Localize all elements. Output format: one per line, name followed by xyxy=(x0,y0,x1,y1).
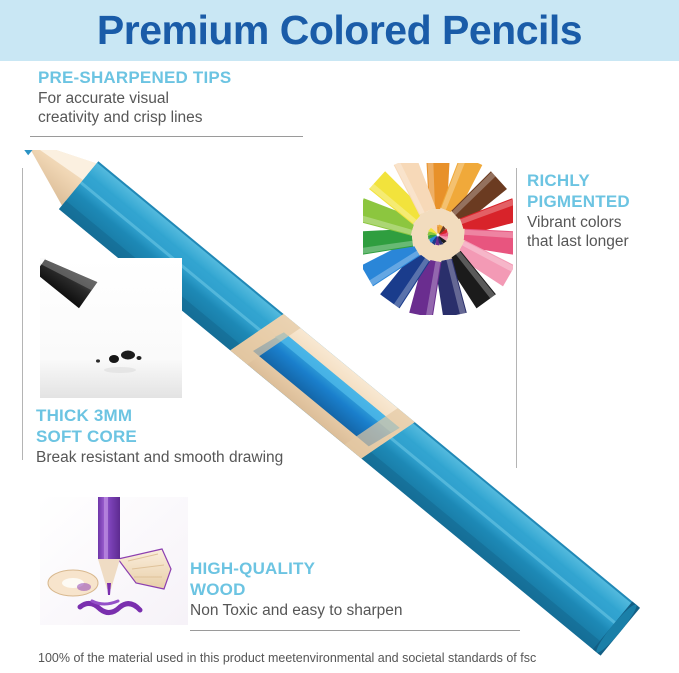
pencil-fan-illustration xyxy=(363,163,513,315)
divider-left-column xyxy=(22,168,23,460)
divider-under-pre-sharpened-tips xyxy=(30,136,303,137)
infographic-page: Premium Colored Pencils PRE-SHARPENED TI… xyxy=(0,0,679,673)
feature-heading-high-quality-wood: HIGH-QUALITY WOOD xyxy=(190,558,520,600)
feature-body-richly-pigmented: Vibrant colors that last longer xyxy=(527,213,675,251)
feature-heading-pre-sharpened-tips: PRE-SHARPENED TIPS xyxy=(38,67,338,88)
feature-body-high-quality-wood: Non Toxic and easy to sharpen xyxy=(190,601,520,620)
feature-thick-soft-core: THICK 3MM SOFT CORE Break resistant and … xyxy=(36,405,366,467)
feature-heading-richly-pigmented: RICHLY PIGMENTED xyxy=(527,170,675,212)
divider-under-high-quality-wood xyxy=(190,630,520,631)
feature-high-quality-wood: HIGH-QUALITY WOOD Non Toxic and easy to … xyxy=(190,558,520,620)
feature-body-thick-soft-core: Break resistant and smooth drawing xyxy=(36,448,366,467)
feature-heading-thick-soft-core: THICK 3MM SOFT CORE xyxy=(36,405,366,447)
divider-right-column xyxy=(516,168,517,468)
footer-note: 100% of the material used in this produc… xyxy=(38,650,648,666)
feature-pre-sharpened-tips: PRE-SHARPENED TIPS For accurate visual c… xyxy=(38,67,338,127)
inset-photo-soft-core xyxy=(40,258,182,398)
feature-body-pre-sharpened-tips: For accurate visual creativity and crisp… xyxy=(38,89,338,127)
page-title: Premium Colored Pencils xyxy=(0,0,679,61)
feature-richly-pigmented: RICHLY PIGMENTED Vibrant colors that las… xyxy=(527,170,675,251)
inset-photo-wood-shavings xyxy=(40,497,188,625)
